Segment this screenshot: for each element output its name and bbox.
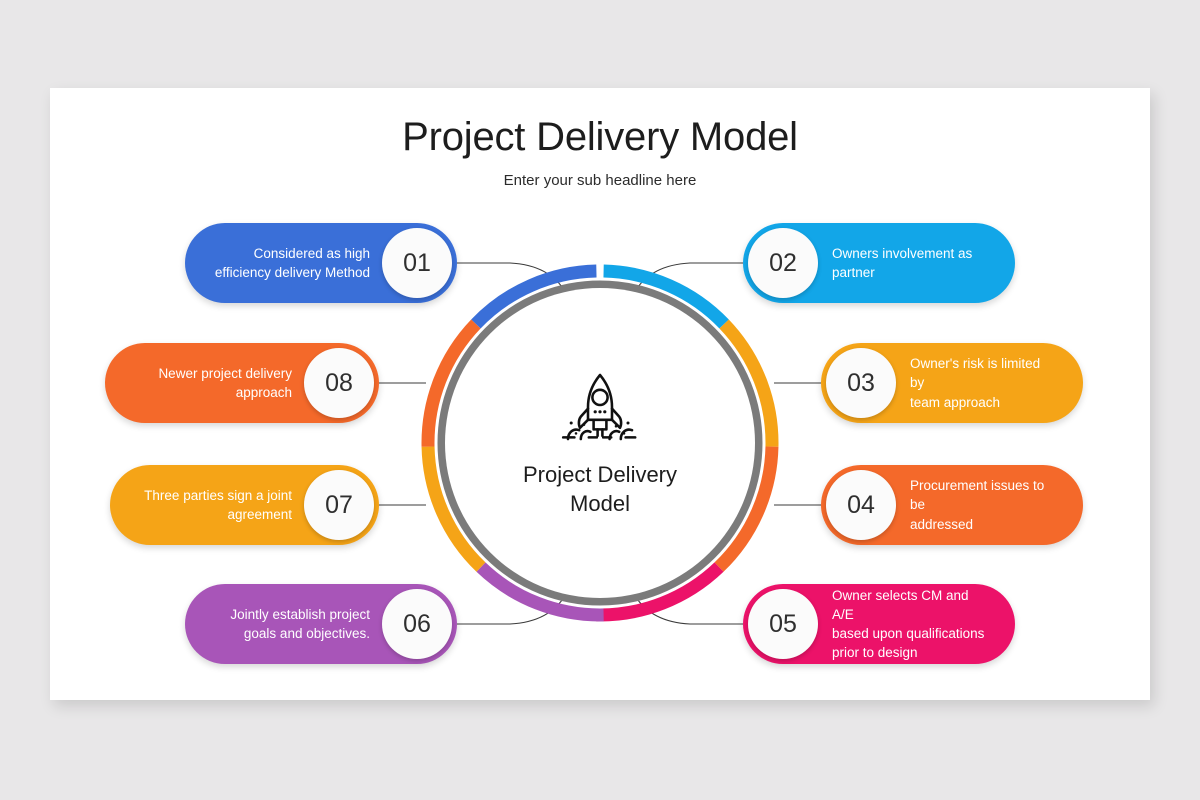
rocket-icon — [552, 367, 648, 447]
item-text-05-line1: Owner selects CM and A/E — [832, 588, 969, 622]
item-text-05-line3: prior to design — [832, 645, 918, 660]
hub-label: Project Delivery Model — [495, 461, 705, 518]
item-pill-06[interactable]: Jointly establish project goals and obje… — [185, 584, 457, 664]
item-pill-03[interactable]: 03 Owner's risk is limited by team appro… — [821, 343, 1083, 423]
item-text-05: Owner selects CM and A/E based upon qual… — [818, 586, 1015, 663]
item-text-08-line2: approach — [236, 385, 292, 400]
item-badge-03[interactable]: 03 — [826, 348, 896, 418]
item-text-07-line2: agreement — [227, 507, 292, 522]
circular-infographic: Project Delivery Model Considered as hig… — [50, 88, 1150, 700]
item-badge-02[interactable]: 02 — [748, 228, 818, 298]
item-text-04: Procurement issues to be addressed — [896, 476, 1083, 533]
item-badge-07[interactable]: 07 — [304, 470, 374, 540]
item-pill-08[interactable]: Newer project delivery approach 08 — [105, 343, 379, 423]
item-badge-04[interactable]: 04 — [826, 470, 896, 540]
item-text-06-line2: goals and objectives. — [244, 626, 370, 641]
item-text-07-line1: Three parties sign a joint — [144, 488, 292, 503]
item-badge-06[interactable]: 06 — [382, 589, 452, 659]
item-text-08: Newer project delivery approach — [105, 364, 304, 402]
item-badge-05[interactable]: 05 — [748, 589, 818, 659]
hub-center: Project Delivery Model — [445, 288, 755, 598]
item-text-03-line2: team approach — [910, 395, 1000, 410]
item-text-01-line2: efficiency delivery Method — [215, 265, 370, 280]
item-badge-08[interactable]: 08 — [304, 348, 374, 418]
item-text-01-line1: Considered as high — [254, 246, 370, 261]
item-pill-02[interactable]: 02 Owners involvement as partner — [743, 223, 1015, 303]
slide-card: Project Delivery Model Enter your sub he… — [50, 88, 1150, 700]
item-text-02-line2: partner — [832, 265, 875, 280]
item-text-08-line1: Newer project delivery — [158, 366, 292, 381]
item-text-06-line1: Jointly establish project — [230, 607, 370, 622]
item-text-02-line1: Owners involvement as — [832, 246, 972, 261]
hub-label-line1: Project Delivery — [523, 462, 677, 487]
item-text-04-line1: Procurement issues to be — [910, 478, 1044, 512]
item-text-03-line1: Owner's risk is limited by — [910, 356, 1040, 390]
item-pill-01[interactable]: Considered as high efficiency delivery M… — [185, 223, 457, 303]
item-text-01: Considered as high efficiency delivery M… — [185, 244, 382, 282]
item-pill-05[interactable]: 05 Owner selects CM and A/E based upon q… — [743, 584, 1015, 664]
item-text-04-line2: addressed — [910, 517, 973, 532]
item-pill-07[interactable]: Three parties sign a joint agreement 07 — [110, 465, 379, 545]
item-text-07: Three parties sign a joint agreement — [110, 486, 304, 524]
item-pill-04[interactable]: 04 Procurement issues to be addressed — [821, 465, 1083, 545]
item-text-05-line2: based upon qualifications — [832, 626, 984, 641]
item-text-06: Jointly establish project goals and obje… — [185, 605, 382, 643]
item-badge-01[interactable]: 01 — [382, 228, 452, 298]
item-text-02: Owners involvement as partner — [818, 244, 1015, 282]
hub-label-line2: Model — [570, 491, 630, 516]
item-text-03: Owner's risk is limited by team approach — [896, 354, 1083, 411]
